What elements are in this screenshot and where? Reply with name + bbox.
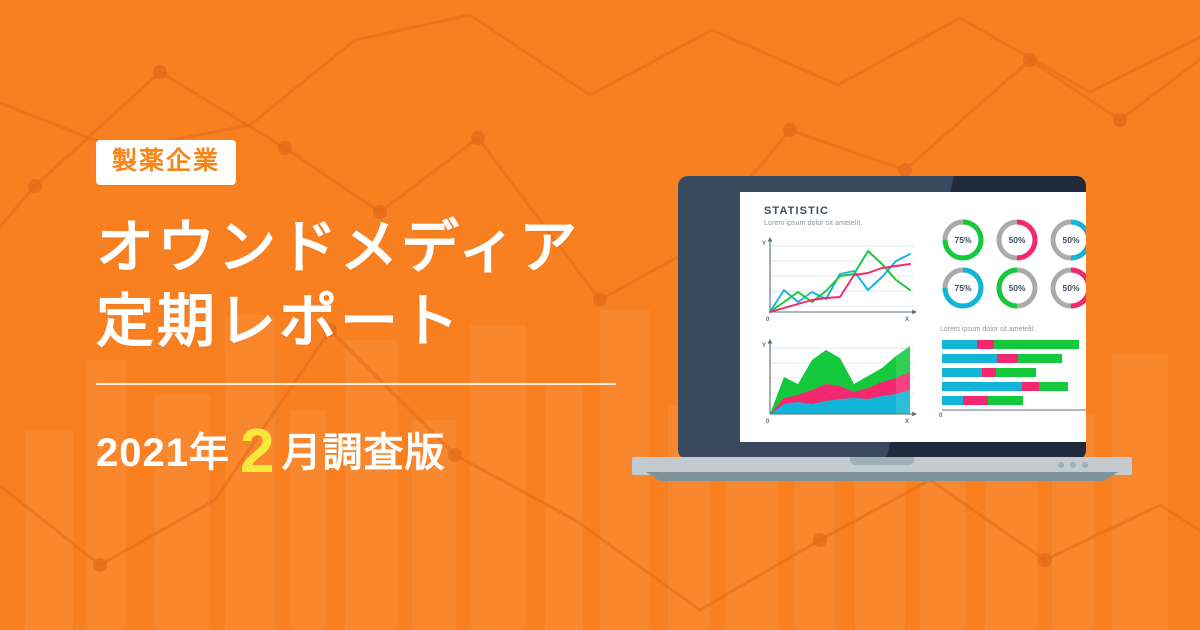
statistic-line-chart: Y 0 X [756,234,920,324]
laptop-lid: STATISTIC Lorem ipsum dolor sit ametelit… [678,176,1086,460]
horizontal-stacked-bar-chart: 0 X [936,338,1086,418]
bar-chart-label: Lorem ipsum dolor sit ametelit. [940,326,1086,333]
donut-chart: 50% [990,216,1044,264]
date-month-number: 2 [240,421,275,483]
donut-value-label: 50% [1044,264,1086,312]
laptop-screen: STATISTIC Lorem ipsum dolor sit ametelit… [740,192,1086,442]
base-dot [1058,462,1064,468]
svg-text:Y: Y [762,241,766,247]
donut-chart: 50% [1044,216,1086,264]
svg-text:0: 0 [939,413,943,418]
donut-chart: 50% [1044,264,1086,312]
donut-value-label: 50% [990,264,1044,312]
donut-value-label: 50% [1044,216,1086,264]
laptop-trackpad-notch [850,457,914,465]
svg-text:X: X [905,419,909,425]
date-year: 2021年 [96,433,230,473]
stacked-area-chart: Y 0 X [756,332,920,428]
headline-block: 製薬企業 オウンドメディア 定期レポート 2021年 2 月調査版 [96,140,656,477]
laptop-base-dots [1058,462,1088,468]
page-title: オウンドメディア 定期レポート [96,211,656,359]
date-suffix: 月調査版 [281,433,445,473]
svg-text:0: 0 [766,419,770,425]
date-line: 2021年 2 月調査版 [96,415,656,477]
dashboard: STATISTIC Lorem ipsum dolor sit ametelit… [740,192,1086,442]
base-dot [1082,462,1088,468]
svg-text:Y: Y [762,343,766,349]
banner-root: 製薬企業 オウンドメディア 定期レポート 2021年 2 月調査版 STATIS… [0,0,1200,630]
laptop-illustration: STATISTIC Lorem ipsum dolor sit ametelit… [632,176,1132,486]
svg-text:X: X [905,317,909,323]
donut-value-label: 75% [936,264,990,312]
donut-chart-grid: 75% 50% [936,216,1086,312]
donut-value-label: 75% [936,216,990,264]
donut-chart: 75% [936,264,990,312]
donut-chart: 75% [936,216,990,264]
laptop-base-lip [646,472,1118,481]
donut-chart: 50% [990,264,1044,312]
divider [96,383,616,385]
base-dot [1070,462,1076,468]
bar-chart-panel: Lorem ipsum dolor sit ametelit. [936,326,1086,418]
svg-text:0: 0 [766,317,770,323]
category-badge: 製薬企業 [96,140,236,185]
donut-value-label: 50% [990,216,1044,264]
